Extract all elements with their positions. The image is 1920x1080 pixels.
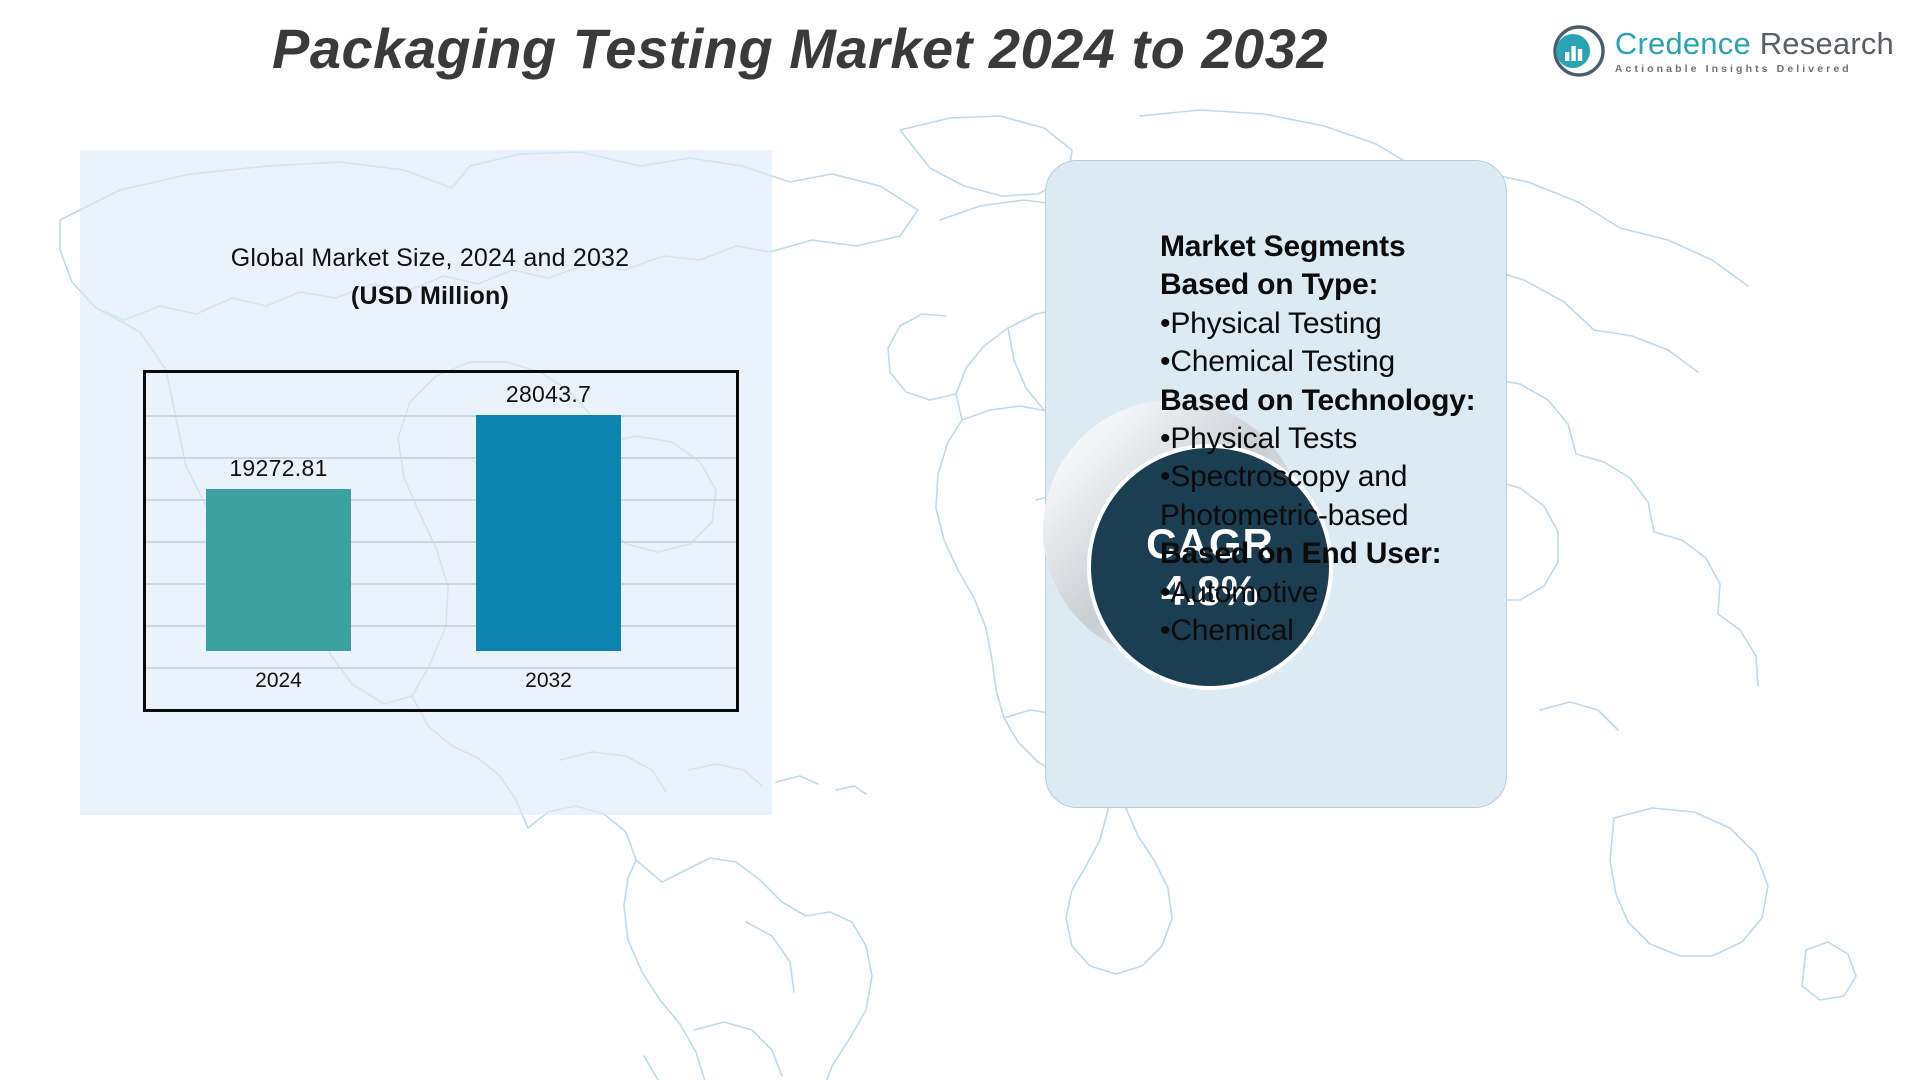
segment-item-label: Physical Testing bbox=[1170, 307, 1381, 340]
bar-2024[interactable] bbox=[206, 489, 351, 651]
chart-title: Global Market Size, 2024 and 2032 bbox=[130, 244, 730, 273]
bullet-icon: • bbox=[1160, 422, 1170, 455]
segment-item-automotive: •Automotive bbox=[1160, 574, 1520, 612]
segment-item-physical-testing: •Physical Testing bbox=[1160, 305, 1520, 343]
logo-text: Credence Research Actionable Insights De… bbox=[1615, 28, 1894, 75]
x-axis-label-2032: 2032 bbox=[476, 669, 621, 693]
x-axis-label-2024: 2024 bbox=[206, 669, 351, 693]
bullet-icon: • bbox=[1160, 345, 1170, 378]
bar-value-2024: 19272.81 bbox=[229, 455, 327, 482]
chart-subtitle: (USD Million) bbox=[130, 282, 730, 311]
chart-plot-area: 19272.81 28043.7 bbox=[146, 373, 736, 651]
credence-research-logo: Credence Research Actionable Insights De… bbox=[1552, 24, 1894, 78]
segment-item-label: Automotive bbox=[1170, 576, 1318, 609]
segments-title: Market Segments bbox=[1160, 228, 1520, 266]
segment-item-physical-tests: •Physical Tests bbox=[1160, 420, 1520, 458]
logo-wordmark: Credence Research bbox=[1615, 28, 1894, 59]
logo-word-credence: Credence bbox=[1615, 26, 1751, 61]
bar-chart: 19272.81 28043.7 2024 2032 bbox=[143, 370, 739, 712]
segment-heading-technology: Based on Technology: bbox=[1160, 382, 1520, 420]
bullet-icon: • bbox=[1160, 576, 1170, 609]
segment-item-label: Spectroscopy and Photometric-based bbox=[1160, 460, 1408, 531]
market-segments-content: Market Segments Based on Type: •Physical… bbox=[1160, 228, 1520, 650]
bar-column-2024[interactable]: 19272.81 bbox=[206, 455, 351, 651]
bar-column-2032[interactable]: 28043.7 bbox=[476, 381, 621, 651]
logo-tagline: Actionable Insights Delivered bbox=[1615, 64, 1894, 75]
segment-item-chemical-testing: •Chemical Testing bbox=[1160, 343, 1520, 381]
segment-item-label: Physical Tests bbox=[1170, 422, 1357, 455]
bar-chart-circle-icon bbox=[1552, 24, 1606, 78]
segment-heading-type: Based on Type: bbox=[1160, 266, 1520, 304]
segment-item-label: Chemical Testing bbox=[1170, 345, 1395, 378]
page-title: Packaging Testing Market 2024 to 2032 bbox=[170, 16, 1430, 81]
bar-value-2032: 28043.7 bbox=[506, 381, 591, 408]
segment-item-chemical: •Chemical bbox=[1160, 612, 1520, 650]
chart-title-block: Global Market Size, 2024 and 2032 (USD M… bbox=[130, 244, 730, 311]
bullet-icon: • bbox=[1160, 614, 1170, 647]
infographic-canvas: Packaging Testing Market 2024 to 2032 Cr… bbox=[0, 0, 1920, 1080]
segment-item-spectroscopy: •Spectroscopy and Photometric-based bbox=[1160, 458, 1520, 535]
bullet-icon: • bbox=[1160, 307, 1170, 340]
bar-2032[interactable] bbox=[476, 415, 621, 651]
bullet-icon: • bbox=[1160, 460, 1170, 493]
segment-item-label: Chemical bbox=[1170, 614, 1293, 647]
segment-heading-end-user: Based on End User: bbox=[1160, 535, 1520, 573]
logo-word-research: Research bbox=[1760, 26, 1894, 61]
